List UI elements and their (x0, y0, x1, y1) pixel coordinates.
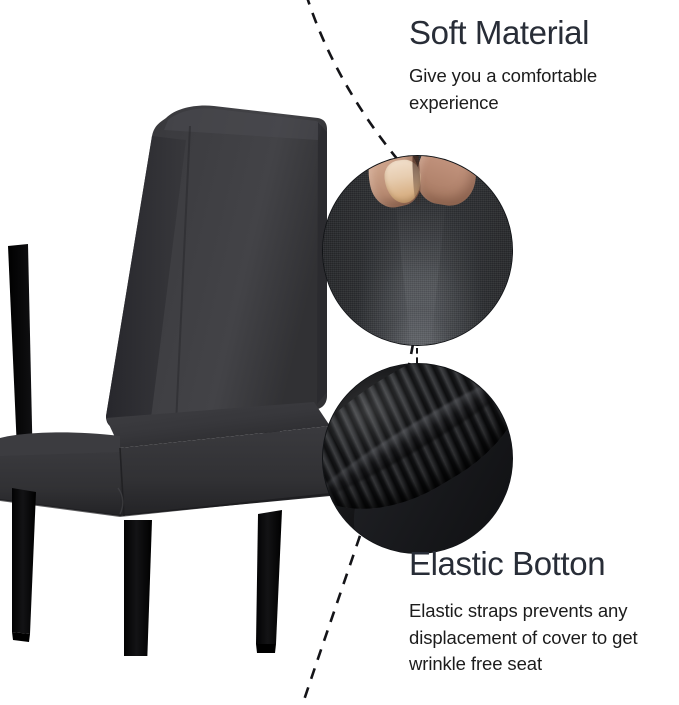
chair-seat (0, 402, 330, 516)
feature-heading-soft-material: Soft Material (409, 14, 671, 52)
feature-heading-elastic-botton: Elastic Botton (409, 545, 675, 583)
feature-block-elastic-botton: Elastic Botton Elastic straps prevents a… (409, 545, 675, 677)
detail-photo-fabric-pinch: Close-up of two fingers pinching and lif… (322, 155, 513, 346)
chair-leg-front-center (124, 520, 152, 656)
feature-description-elastic-botton: Elastic straps prevents any displacement… (409, 598, 675, 677)
chair-back (106, 106, 327, 430)
chair-leg-front-left (12, 488, 36, 642)
infographic-canvas: Close-up of two fingers pinching and lif… (0, 0, 679, 705)
chair-product-image (0, 96, 330, 656)
feature-description-soft-material: Give you a comfortable experience (409, 63, 671, 116)
feature-block-soft-material: Soft Material Give you a comfortable exp… (409, 14, 671, 116)
chair-leg-front-right (256, 510, 282, 653)
detail-photo-elastic-hem: Close-up of the gathered elastic hem ban… (322, 363, 513, 554)
circle-connector-dash (416, 348, 418, 363)
